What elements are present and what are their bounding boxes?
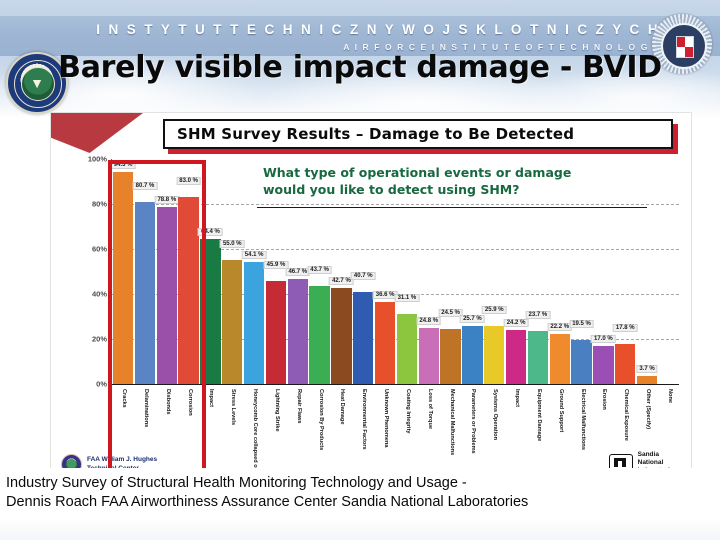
bar-value-label: 19.5 % bbox=[569, 320, 594, 328]
slide: I N S T Y T U T T E C H N I C Z N Y W O … bbox=[0, 0, 720, 540]
y-axis-tick: 20% bbox=[92, 335, 107, 344]
caption-line-1: Industry Survey of Structural Health Mon… bbox=[6, 474, 467, 493]
x-axis-label: Lightning Strike bbox=[273, 389, 279, 432]
y-axis-tick: 100% bbox=[88, 155, 107, 164]
x-axis-label: Impact bbox=[208, 389, 214, 407]
x-axis-label: Erosion bbox=[600, 389, 606, 410]
x-axis-label: Parameters or Problems bbox=[469, 389, 475, 454]
y-axis-tick: 80% bbox=[92, 200, 107, 209]
x-axis-label: None bbox=[666, 389, 672, 403]
page-title: Barely visible impact damage - BVID bbox=[0, 50, 720, 85]
x-axis-label: Unknown Phenomena bbox=[382, 389, 388, 447]
x-axis-label: Electrical Malfunctions bbox=[579, 389, 585, 450]
bar-group: 54.1 % bbox=[244, 159, 264, 384]
bar-value-label: 43.7 % bbox=[307, 266, 332, 274]
bar-group: 55.0 % bbox=[222, 159, 242, 384]
bar bbox=[571, 340, 591, 384]
bar-group: 17.0 % bbox=[593, 159, 613, 384]
bar bbox=[637, 376, 657, 384]
x-axis-label: Systems Operation bbox=[491, 389, 497, 440]
bar-value-label: 17.8 % bbox=[613, 324, 638, 332]
bar-value-label: 55.0 % bbox=[220, 240, 245, 248]
x-axis-label: Corrosion By Products bbox=[317, 389, 323, 450]
x-axis-label: Mechanical Malfunctions bbox=[448, 389, 454, 455]
bar-value-label: 40.7 % bbox=[351, 272, 376, 280]
bar-value-label: 31.1 % bbox=[395, 294, 420, 302]
bar bbox=[288, 279, 308, 384]
x-axis-label: Repair Flaws bbox=[295, 389, 301, 424]
bar-group: 24.8 % bbox=[419, 159, 439, 384]
bar-group: 23.7 % bbox=[528, 159, 548, 384]
bar bbox=[528, 331, 548, 384]
bar-group: 17.8 % bbox=[615, 159, 635, 384]
bar-value-label: 24.8 % bbox=[416, 317, 441, 325]
x-axis-label: Ground Support bbox=[557, 389, 563, 432]
bar-group: 25.9 % bbox=[484, 159, 504, 384]
x-axis-label: Equipment Damage bbox=[535, 389, 541, 441]
sandia-mark-bridge bbox=[614, 458, 626, 461]
x-axis-label: Impact bbox=[513, 389, 519, 407]
bar-value-label: 17.0 % bbox=[591, 335, 616, 343]
bar-value-label: 24.2 % bbox=[504, 319, 529, 327]
bar-value-label: 3.7 % bbox=[636, 365, 657, 373]
institute-name-pl: I N S T Y T U T T E C H N I C Z N Y W O … bbox=[0, 22, 660, 37]
x-axis-label: Coating Integrity bbox=[404, 389, 410, 433]
bar-group: 24.5 % bbox=[440, 159, 460, 384]
bar-group: 25.7 % bbox=[462, 159, 482, 384]
bar-value-label: 54.1 % bbox=[242, 251, 267, 259]
bar-group: 40.7 % bbox=[353, 159, 373, 384]
bar bbox=[266, 281, 286, 384]
crest-quarter-1 bbox=[677, 37, 685, 47]
bar-value-label: 25.9 % bbox=[482, 306, 507, 314]
slide-caption: Industry Survey of Structural Health Mon… bbox=[6, 474, 718, 512]
bar-group: 46.7 % bbox=[288, 159, 308, 384]
x-axis-label: Stress Levels bbox=[229, 389, 235, 425]
bar-group: 22.2 % bbox=[550, 159, 570, 384]
y-axis-labels: 100%80%60%40%20%0% bbox=[79, 159, 111, 384]
bar-group: 36.6 % bbox=[375, 159, 395, 384]
caption-line-2: Dennis Roach FAA Airworthiness Assurance… bbox=[6, 493, 528, 512]
x-axis-label: Heat Damage bbox=[339, 389, 345, 424]
bar-group: 45.9 % bbox=[266, 159, 286, 384]
bar-value-label: 23.7 % bbox=[526, 311, 551, 319]
y-axis-tick: 0% bbox=[96, 380, 107, 389]
sandia-logo-line-2: National bbox=[638, 459, 677, 467]
bar bbox=[506, 330, 526, 384]
bar bbox=[593, 346, 613, 384]
bar-group: 3.7 % bbox=[637, 159, 657, 384]
highlight-box bbox=[108, 160, 206, 490]
x-axis-label: Loss of Torque bbox=[426, 389, 432, 429]
bar-group: 19.5 % bbox=[571, 159, 591, 384]
bar bbox=[397, 314, 417, 384]
bar-group: 24.2 % bbox=[506, 159, 526, 384]
bar bbox=[222, 260, 242, 384]
bar bbox=[550, 334, 570, 384]
bar bbox=[309, 286, 329, 384]
x-axis-label: Environmental Factors bbox=[360, 389, 366, 450]
bar bbox=[440, 329, 460, 384]
bar bbox=[419, 328, 439, 384]
y-axis-tick: 40% bbox=[92, 290, 107, 299]
bar bbox=[375, 302, 395, 384]
bar bbox=[484, 326, 504, 384]
sandia-logo-line-1: Sandia bbox=[638, 451, 677, 459]
red-wedge-decoration bbox=[51, 113, 143, 153]
bar-group: 31.1 % bbox=[397, 159, 417, 384]
bar-value-label: 25.7 % bbox=[460, 315, 485, 323]
bar bbox=[353, 292, 373, 384]
bar bbox=[615, 344, 635, 384]
x-axis-label: Other (Specify) bbox=[644, 389, 650, 429]
chart-title: SHM Survey Results – Damage to Be Detect… bbox=[163, 119, 673, 149]
chart-title-container: SHM Survey Results – Damage to Be Detect… bbox=[163, 119, 673, 149]
bar bbox=[244, 262, 264, 384]
y-axis-tick: 60% bbox=[92, 245, 107, 254]
bar bbox=[462, 326, 482, 384]
bar-group: 42.7 % bbox=[331, 159, 351, 384]
bar-group: 43.7 % bbox=[309, 159, 329, 384]
bar-group bbox=[659, 159, 679, 384]
bar bbox=[331, 288, 351, 384]
x-axis-label: Chemical Exposure bbox=[622, 389, 628, 441]
